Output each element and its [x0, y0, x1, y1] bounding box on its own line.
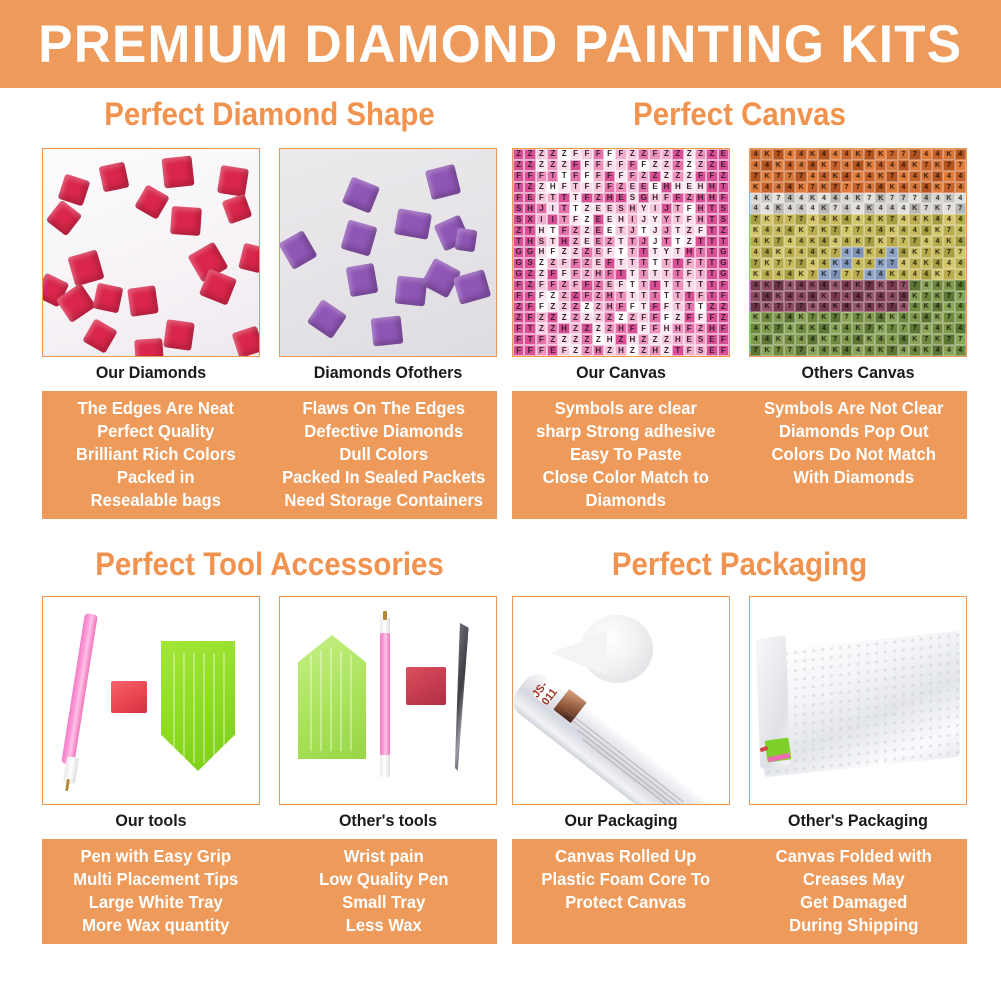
canvas-symbol-cell: 4	[864, 269, 875, 280]
canvas-symbol-cell: F	[718, 280, 729, 291]
section-packaging: Perfect Packaging JS-011	[512, 548, 967, 944]
canvas-symbol-cell: K	[864, 203, 875, 214]
canvas-symbol-cell: F	[627, 323, 638, 334]
canvas-symbol-cell: 7	[943, 203, 954, 214]
canvas-symbol-cell: 4	[921, 312, 932, 323]
canvas-symbol-cell: K	[943, 280, 954, 291]
canvas-symbol-cell: 4	[864, 225, 875, 236]
canvas-symbol-cell: E	[593, 225, 604, 236]
canvas-symbol-cell: 4	[875, 269, 886, 280]
canvas-symbol-cell: Z	[604, 345, 615, 356]
canvas-symbol-cell: 4	[830, 280, 841, 291]
canvas-symbol-cell: Z	[558, 291, 569, 302]
canvas-symbol-cell: H	[604, 302, 615, 313]
canvas-symbol-cell: E	[718, 149, 729, 160]
page-header: PREMIUM DIAMOND PAINTING KITS	[0, 0, 1001, 88]
canvas-symbol-cell: 4	[841, 203, 852, 214]
canvas-symbol-cell: 4	[761, 160, 772, 171]
canvas-symbol-cell: 7	[807, 312, 818, 323]
caption-our-packaging: Our Packaging	[515, 812, 726, 831]
canvas-symbol-cell: K	[864, 334, 875, 345]
canvas-symbol-cell: H	[661, 182, 672, 193]
caption-other-canvas: Others Canvas	[752, 364, 963, 383]
canvas-symbol-cell: 4	[750, 334, 761, 345]
bullet: With Diamonds	[747, 466, 959, 489]
canvas-symbol-cell: J	[661, 203, 672, 214]
other-tools-photo	[279, 596, 497, 805]
canvas-symbol-cell: Z	[695, 160, 706, 171]
bullet: Multi Placement Tips	[50, 868, 262, 891]
canvas-symbol-cell: H	[593, 345, 604, 356]
canvas-symbol-cell: H	[649, 345, 660, 356]
canvas-symbol-cell: T	[695, 247, 706, 258]
canvas-symbol-cell: 7	[955, 334, 966, 345]
canvas-symbol-cell: F	[672, 193, 683, 204]
canvas-symbol-cell: 7	[943, 247, 954, 258]
canvas-symbol-cell: F	[649, 312, 660, 323]
canvas-symbol-cell: E	[684, 182, 695, 193]
canvas-symbol-cell: K	[750, 225, 761, 236]
canvas-symbol-cell: K	[830, 171, 841, 182]
canvas-symbol-cell: H	[547, 182, 558, 193]
canvas-symbol-cell: 4	[898, 345, 909, 356]
canvas-symbol-cell: 7	[864, 280, 875, 291]
canvas-symbol-cell: 4	[818, 280, 829, 291]
canvas-symbol-cell: Z	[570, 247, 581, 258]
canvas-symbol-cell: 4	[898, 247, 909, 258]
canvas-symbol-cell: Z	[524, 160, 535, 171]
other-canvas-photo: 4K744K444K7K77744K444K444K744K444K7K777K…	[749, 148, 967, 357]
canvas-symbol-cell: H	[627, 203, 638, 214]
canvas-symbol-cell: 7	[886, 214, 897, 225]
bullet: Diamonds Pop Out	[747, 420, 959, 443]
canvas-symbol-cell: E	[604, 225, 615, 236]
caption-our-diamonds: Our Diamonds	[45, 364, 256, 383]
canvas-symbol-cell: K	[864, 247, 875, 258]
canvas-symbol-cell: 4	[955, 302, 966, 313]
canvas-symbol-cell: 7	[886, 280, 897, 291]
canvas-symbol-cell: 4	[784, 269, 795, 280]
canvas-symbol-cell: T	[672, 214, 683, 225]
canvas-symbol-cell: T	[547, 236, 558, 247]
section-title-diamond-shape: Perfect Diamond Shape	[60, 98, 479, 130]
canvas-symbol-cell: S	[513, 214, 524, 225]
canvas-symbol-cell: K	[875, 149, 886, 160]
canvas-symbol-cell: 4	[955, 345, 966, 356]
canvas-symbol-cell: 4	[932, 302, 943, 313]
caption-other-diamonds: Diamonds Ofothers	[282, 364, 493, 383]
canvas-symbol-cell: 7	[921, 247, 932, 258]
canvas-symbol-cell: F	[615, 280, 626, 291]
canvas-symbol-cell: 7	[830, 203, 841, 214]
canvas-symbol-cell: 7	[773, 193, 784, 204]
canvas-symbol-cell: 4	[795, 149, 806, 160]
canvas-symbol-cell: Z	[593, 334, 604, 345]
canvas-symbol-cell: 4	[909, 312, 920, 323]
canvas-symbol-cell: 7	[795, 214, 806, 225]
canvas-symbol-cell: 4	[773, 182, 784, 193]
caption-our-canvas: Our Canvas	[515, 364, 726, 383]
canvas-symbol-cell: 4	[761, 182, 772, 193]
canvas-symbol-cell: F	[558, 269, 569, 280]
canvas-symbol-cell: I	[627, 214, 638, 225]
canvas-symbol-cell: 4	[886, 203, 897, 214]
canvas-symbol-cell: 4	[921, 280, 932, 291]
canvas-symbol-cell: K	[750, 312, 761, 323]
canvas-symbol-cell: K	[830, 214, 841, 225]
canvas-symbol-cell: 4	[750, 160, 761, 171]
canvas-symbol-cell: 4	[886, 334, 897, 345]
canvas-symbol-cell: 4	[955, 225, 966, 236]
canvas-symbol-cell: Y	[661, 214, 672, 225]
canvas-symbol-cell: 4	[807, 334, 818, 345]
canvas-symbol-cell: 7	[830, 225, 841, 236]
canvas-symbol-cell: 4	[875, 291, 886, 302]
canvas-symbol-cell: 4	[955, 149, 966, 160]
canvas-symbol-cell: Z	[649, 171, 660, 182]
canvas-symbol-cell: K	[795, 269, 806, 280]
canvas-symbol-cell: T	[718, 236, 729, 247]
canvas-symbol-cell: 7	[750, 171, 761, 182]
canvas-symbol-cell: F	[615, 160, 626, 171]
canvas-symbol-cell: J	[638, 214, 649, 225]
canvas-symbol-cell: 4	[898, 214, 909, 225]
canvas-symbol-cell: 4	[943, 171, 954, 182]
canvas-symbol-cell: S	[695, 334, 706, 345]
canvas-symbol-cell: 7	[909, 280, 920, 291]
canvas-symbol-cell: 4	[943, 302, 954, 313]
canvas-symbol-cell: 7	[750, 302, 761, 313]
canvas-symbol-cell: S	[627, 193, 638, 204]
canvas-symbol-cell: T	[615, 236, 626, 247]
canvas-symbol-cell: E	[627, 182, 638, 193]
canvas-symbol-cell: F	[524, 291, 535, 302]
canvas-symbol-cell: F	[604, 258, 615, 269]
canvas-symbol-cell: 7	[773, 345, 784, 356]
canvas-symbol-cell: F	[547, 247, 558, 258]
canvas-symbol-cell: K	[761, 214, 772, 225]
canvas-symbol-cell: F	[513, 334, 524, 345]
bullet: Symbols Are Not Clear	[747, 397, 959, 420]
canvas-symbol-cell: F	[558, 258, 569, 269]
canvas-symbol-cell: 4	[830, 193, 841, 204]
bullet: Large White Tray	[50, 891, 262, 914]
canvas-symbol-cell: T	[627, 291, 638, 302]
canvas-symbol-cell: 4	[921, 193, 932, 204]
bullet: Low Quality Pen	[277, 868, 489, 891]
canvas-symbol-cell: Z	[593, 291, 604, 302]
bullets-our-packaging: Canvas Rolled Up Plastic Foam Core To Pr…	[518, 845, 734, 937]
canvas-symbol-cell: 4	[875, 247, 886, 258]
canvas-symbol-cell: 4	[795, 291, 806, 302]
canvas-symbol-cell: K	[773, 291, 784, 302]
canvas-symbol-cell: F	[536, 291, 547, 302]
canvas-symbol-cell: Z	[649, 160, 660, 171]
canvas-symbol-cell: 7	[830, 312, 841, 323]
canvas-symbol-cell: Z	[570, 345, 581, 356]
canvas-symbol-cell: 7	[864, 193, 875, 204]
canvas-symbol-cell: Z	[581, 334, 592, 345]
canvas-symbol-cell: Z	[536, 149, 547, 160]
canvas-symbol-cell: Z	[604, 312, 615, 323]
canvas-symbol-cell: E	[706, 334, 717, 345]
canvas-symbol-cell: K	[932, 247, 943, 258]
canvas-symbol-cell: K	[830, 258, 841, 269]
canvas-symbol-cell: 4	[898, 269, 909, 280]
canvas-symbol-cell: 7	[955, 291, 966, 302]
canvas-symbol-cell: 7	[830, 160, 841, 171]
canvas-symbol-cell: E	[604, 280, 615, 291]
canvas-symbol-cell: F	[593, 160, 604, 171]
canvas-symbol-cell: F	[581, 160, 592, 171]
canvas-symbol-cell: K	[875, 214, 886, 225]
section-title-canvas: Perfect Canvas	[530, 98, 949, 130]
canvas-symbol-cell: F	[638, 312, 649, 323]
bullet: Dull Colors	[277, 443, 489, 466]
canvas-symbol-cell: T	[615, 247, 626, 258]
canvas-symbol-cell: 4	[921, 149, 932, 160]
canvas-symbol-cell: 4	[750, 323, 761, 334]
canvas-symbol-cell: K	[909, 334, 920, 345]
canvas-symbol-cell: 7	[921, 203, 932, 214]
canvas-symbol-cell: 7	[773, 323, 784, 334]
canvas-symbol-cell: K	[886, 225, 897, 236]
canvas-symbol-cell: K	[761, 280, 772, 291]
canvas-symbol-cell: Z	[695, 149, 706, 160]
canvas-symbol-cell: E	[593, 258, 604, 269]
caption-other-packaging: Other's Packaging	[752, 812, 963, 831]
canvas-symbol-cell: T	[615, 291, 626, 302]
canvas-symbol-cell: Z	[684, 149, 695, 160]
canvas-symbol-cell: Z	[547, 149, 558, 160]
bullet: Plastic Foam Core To	[520, 868, 732, 891]
canvas-symbol-cell: K	[875, 323, 886, 334]
canvas-symbol-cell: 4	[750, 236, 761, 247]
canvas-symbol-cell: T	[672, 291, 683, 302]
canvas-symbol-cell: 7	[852, 182, 863, 193]
canvas-symbol-cell: T	[672, 258, 683, 269]
canvas-symbol-cell: 4	[875, 203, 886, 214]
canvas-symbol-cell: 7	[886, 345, 897, 356]
canvas-symbol-cell: F	[524, 312, 535, 323]
canvas-symbol-cell: K	[932, 182, 943, 193]
canvas-symbol-cell: F	[684, 269, 695, 280]
canvas-symbol-cell: K	[761, 258, 772, 269]
canvas-symbol-cell: Z	[638, 334, 649, 345]
canvas-symbol-cell: F	[604, 160, 615, 171]
canvas-symbol-cell: F	[570, 149, 581, 160]
canvas-symbol-cell: 7	[864, 323, 875, 334]
canvas-symbol-cell: 7	[784, 345, 795, 356]
canvas-symbol-cell: 4	[898, 182, 909, 193]
section-diamond-shape: Perfect Diamond Shape	[42, 98, 497, 519]
canvas-symbol-cell: 7	[921, 334, 932, 345]
canvas-symbol-cell: Z	[627, 312, 638, 323]
canvas-symbol-cell: 4	[864, 171, 875, 182]
canvas-symbol-cell: T	[627, 247, 638, 258]
canvas-symbol-cell: H	[615, 214, 626, 225]
canvas-symbol-cell: 4	[784, 291, 795, 302]
canvas-symbol-cell: 4	[841, 193, 852, 204]
canvas-symbol-cell: Z	[513, 149, 524, 160]
canvas-symbol-cell: 7	[807, 269, 818, 280]
canvas-symbol-cell: 7	[841, 182, 852, 193]
bullets-other-diamonds: Flaws On The Edges Defective Diamonds Du…	[275, 397, 491, 512]
canvas-symbol-cell: 4	[955, 258, 966, 269]
bullet: Protect Canvas	[520, 891, 732, 914]
section-title-tool-accessories: Perfect Tool Accessories	[60, 548, 479, 580]
canvas-symbol-cell: 4	[795, 323, 806, 334]
canvas-symbol-cell: 4	[784, 193, 795, 204]
canvas-symbol-cell: F	[684, 203, 695, 214]
canvas-symbol-cell: F	[604, 171, 615, 182]
bullet: Creases May	[747, 868, 959, 891]
canvas-symbol-cell: F	[513, 323, 524, 334]
canvas-symbol-cell: G	[718, 247, 729, 258]
canvas-symbol-cell: 4	[955, 312, 966, 323]
bullet: The Edges Are Neat	[50, 397, 262, 420]
canvas-symbol-cell: 4	[864, 214, 875, 225]
canvas-symbol-cell: F	[695, 225, 706, 236]
canvas-symbol-cell: 4	[841, 323, 852, 334]
canvas-symbol-cell: Z	[536, 312, 547, 323]
canvas-symbol-cell: K	[818, 225, 829, 236]
bullets-other-canvas: Symbols Are Not Clear Diamonds Pop Out C…	[745, 397, 961, 512]
canvas-symbol-cell: 4	[818, 236, 829, 247]
canvas-symbol-cell: 4	[841, 291, 852, 302]
canvas-symbol-cell: 4	[909, 258, 920, 269]
canvas-symbol-cell: T	[649, 258, 660, 269]
bullet: Packed In Sealed Packets	[277, 466, 489, 489]
canvas-symbol-cell: F	[570, 214, 581, 225]
canvas-symbol-cell: Z	[581, 302, 592, 313]
canvas-symbol-cell: T	[706, 291, 717, 302]
bullet: Canvas Folded with	[747, 845, 959, 868]
canvas-symbol-cell: Z	[581, 203, 592, 214]
canvas-symbol-cell: 4	[841, 171, 852, 182]
canvas-symbol-cell: 4	[784, 334, 795, 345]
canvas-symbol-cell: S	[718, 203, 729, 214]
canvas-symbol-cell: E	[593, 203, 604, 214]
canvas-symbol-cell: F	[570, 160, 581, 171]
canvas-symbol-cell: 4	[761, 312, 772, 323]
canvas-symbol-cell: 4	[886, 291, 897, 302]
canvas-symbol-cell: T	[627, 236, 638, 247]
canvas-symbol-cell: H	[536, 225, 547, 236]
canvas-symbol-cell: 4	[932, 280, 943, 291]
canvas-symbol-cell: 4	[795, 236, 806, 247]
canvas-symbol-cell: 4	[921, 236, 932, 247]
canvas-symbol-cell: E	[604, 203, 615, 214]
canvas-symbol-cell: 4	[909, 302, 920, 313]
canvas-symbol-cell: T	[661, 236, 672, 247]
textbox-diamond-shape: The Edges Are Neat Perfect Quality Brill…	[42, 391, 497, 519]
canvas-symbol-cell: 4	[955, 269, 966, 280]
canvas-symbol-cell: K	[773, 334, 784, 345]
canvas-symbol-cell: 4	[921, 182, 932, 193]
canvas-symbol-cell: S	[615, 203, 626, 214]
canvas-symbol-cell: Z	[718, 302, 729, 313]
canvas-symbol-cell: F	[718, 323, 729, 334]
canvas-symbol-cell: 4	[807, 247, 818, 258]
canvas-symbol-cell: 4	[818, 323, 829, 334]
canvas-symbol-cell: K	[921, 258, 932, 269]
canvas-symbol-cell: F	[695, 171, 706, 182]
canvas-symbol-cell: F	[513, 291, 524, 302]
canvas-symbol-cell: T	[649, 247, 660, 258]
canvas-symbol-cell: Z	[672, 160, 683, 171]
canvas-symbol-cell: Z	[581, 269, 592, 280]
canvas-symbol-cell: K	[852, 149, 863, 160]
canvas-symbol-cell: Z	[570, 334, 581, 345]
canvas-symbol-cell: F	[570, 280, 581, 291]
canvas-symbol-cell: H	[593, 269, 604, 280]
other-packaging-photo	[749, 596, 967, 805]
canvas-symbol-cell: 7	[886, 193, 897, 204]
canvas-symbol-cell: 4	[875, 312, 886, 323]
canvas-symbol-cell: 4	[807, 214, 818, 225]
canvas-symbol-cell: F	[547, 269, 558, 280]
canvas-symbol-cell: Z	[570, 236, 581, 247]
section-title-packaging: Perfect Packaging	[530, 548, 949, 580]
canvas-symbol-cell: E	[593, 236, 604, 247]
canvas-symbol-cell: G	[513, 258, 524, 269]
bullet: Defective Diamonds	[277, 420, 489, 443]
canvas-symbol-cell: X	[524, 214, 535, 225]
canvas-symbol-cell: 4	[898, 171, 909, 182]
canvas-symbol-cell: F	[718, 345, 729, 356]
canvas-symbol-cell: G	[718, 269, 729, 280]
canvas-symbol-cell: 4	[909, 214, 920, 225]
canvas-symbol-cell: Z	[615, 182, 626, 193]
canvas-symbol-cell: F	[593, 149, 604, 160]
canvas-symbol-cell: K	[875, 171, 886, 182]
canvas-symbol-cell: F	[684, 323, 695, 334]
canvas-symbol-cell: F	[718, 193, 729, 204]
canvas-symbol-cell: Z	[547, 334, 558, 345]
canvas-symbol-cell: F	[547, 280, 558, 291]
canvas-symbol-cell: F	[718, 291, 729, 302]
bullet: Brilliant Rich Colors	[50, 443, 262, 466]
textbox-packaging: Canvas Rolled Up Plastic Foam Core To Pr…	[512, 839, 967, 944]
canvas-symbol-cell: 7	[841, 269, 852, 280]
canvas-symbol-cell: F	[513, 345, 524, 356]
canvas-symbol-cell: T	[672, 280, 683, 291]
canvas-symbol-cell: T	[661, 258, 672, 269]
canvas-symbol-cell: Z	[558, 247, 569, 258]
canvas-symbol-cell: S	[718, 214, 729, 225]
canvas-symbol-cell: E	[638, 182, 649, 193]
canvas-symbol-cell: Z	[661, 171, 672, 182]
canvas-symbol-cell: Z	[570, 323, 581, 334]
canvas-symbol-cell: T	[547, 171, 558, 182]
other-diamonds-photo	[279, 148, 497, 357]
canvas-symbol-cell: 4	[864, 182, 875, 193]
canvas-symbol-cell: 4	[784, 203, 795, 214]
canvas-symbol-cell: K	[852, 323, 863, 334]
canvas-symbol-cell: J	[638, 236, 649, 247]
canvas-symbol-cell: Z	[672, 312, 683, 323]
caption-other-tools: Other's tools	[282, 812, 493, 831]
canvas-symbol-cell: F	[513, 171, 524, 182]
canvas-symbol-cell: K	[875, 193, 886, 204]
canvas-symbol-cell: Z	[695, 323, 706, 334]
canvas-symbol-cell: T	[524, 323, 535, 334]
canvas-symbol-cell: 4	[864, 312, 875, 323]
canvas-symbol-cell: 4	[784, 225, 795, 236]
canvas-symbol-cell: F	[684, 345, 695, 356]
canvas-symbol-cell: 4	[898, 225, 909, 236]
